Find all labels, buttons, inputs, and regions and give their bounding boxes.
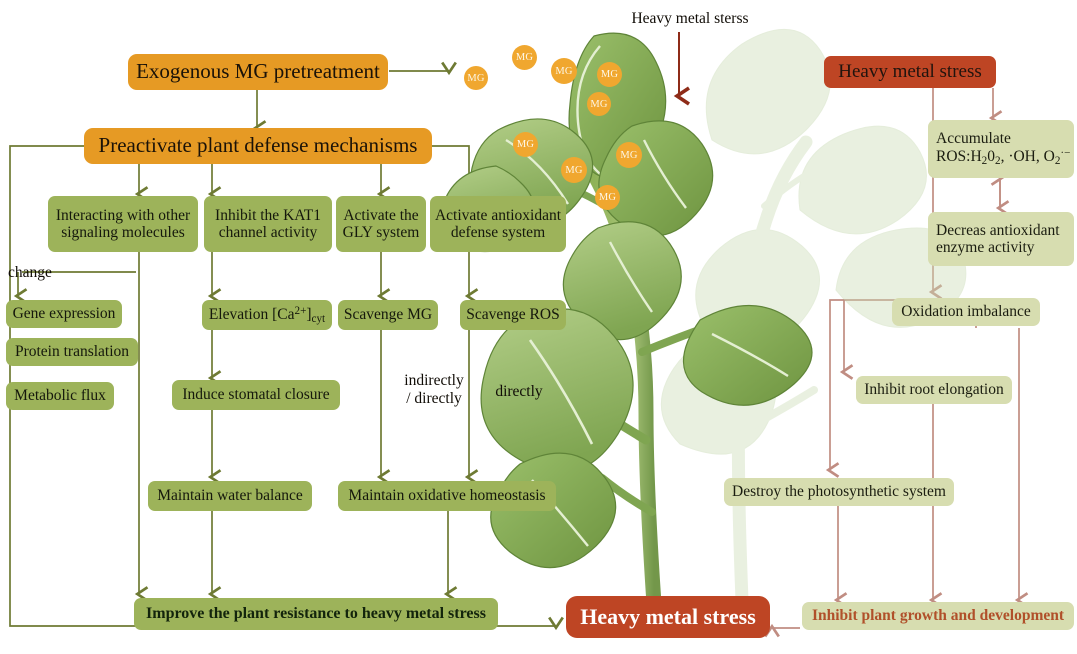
node-maintain-water-balance[interactable]: Maintain water balance [148,481,312,511]
node-protein-translation[interactable]: Protein translation [6,338,138,366]
label-directly: directly [484,383,554,401]
node-heavy-metal-stress-bottom[interactable]: Heavy metal stress [566,596,770,638]
node-heavy-metal-stress-top[interactable]: Heavy metal stress [824,56,996,88]
mg-molecule-dot: MG [597,62,622,87]
label-indirectly-directly: indirectly/ directly [392,372,476,408]
label-heavy-metal-sterss: Heavy metal sterss [620,10,760,28]
node-gene-expression[interactable]: Gene expression [6,300,122,328]
node-decrease-antioxidant-enzyme[interactable]: Decreas antioxidant enzyme activity [928,212,1074,266]
mg-molecule-dot: MG [587,92,611,116]
node-metabolic-flux[interactable]: Metabolic flux [6,382,114,410]
mg-molecule-dot: MG [595,185,620,210]
node-inhibit-plant-growth[interactable]: Inhibit plant growth and development [802,602,1074,630]
mg-molecule-dot: MG [561,157,587,183]
node-destroy-photosynthetic-system[interactable]: Destroy the photosynthetic system [724,478,954,506]
label-change: change [8,264,78,282]
mg-molecule-dot: MG [512,45,537,70]
node-maintain-oxidative-homeostasis[interactable]: Maintain oxidative homeostasis [338,481,556,511]
accumulate-ros-label: AccumulateROS:H202, ·OH, O2·− [936,130,1070,168]
node-inhibit-root-elongation[interactable]: Inhibit root elongation [856,376,1012,404]
figure-canvas: Exogenous MG pretreatment Preactivate pl… [0,0,1077,654]
node-exogenous-mg-pretreatment[interactable]: Exogenous MG pretreatment [128,54,388,90]
mg-molecule-dot: MG [616,142,642,168]
mg-molecule-dot: MG [513,132,538,157]
node-preactivate-defense[interactable]: Preactivate plant defense mechanisms [84,128,432,164]
node-activate-gly[interactable]: Activate the GLY system [336,196,426,252]
node-induce-stomatal-closure[interactable]: Induce stomatal closure [172,380,340,410]
mg-molecule-dot: MG [551,58,577,84]
node-interacting-signaling[interactable]: Interacting with other signaling molecul… [48,196,198,252]
node-elevation-calcium[interactable]: Elevation [Ca2+]cyt [202,300,332,330]
node-scavenge-ros[interactable]: Scavenge ROS [460,300,566,330]
node-oxidation-imbalance[interactable]: Oxidation imbalance [892,298,1040,326]
node-activate-antioxidant[interactable]: Activate antioxidant defense system [430,196,566,252]
elevation-calcium-label: Elevation [Ca2+]cyt [209,305,325,326]
node-inhibit-kat1[interactable]: Inhibit the KAT1 channel activity [204,196,332,252]
node-accumulate-ros[interactable]: AccumulateROS:H202, ·OH, O2·− [928,120,1074,178]
node-improve-plant-resistance[interactable]: Improve the plant resistance to heavy me… [134,598,498,630]
mg-molecule-dot: MG [464,66,488,90]
node-scavenge-mg[interactable]: Scavenge MG [338,300,438,330]
